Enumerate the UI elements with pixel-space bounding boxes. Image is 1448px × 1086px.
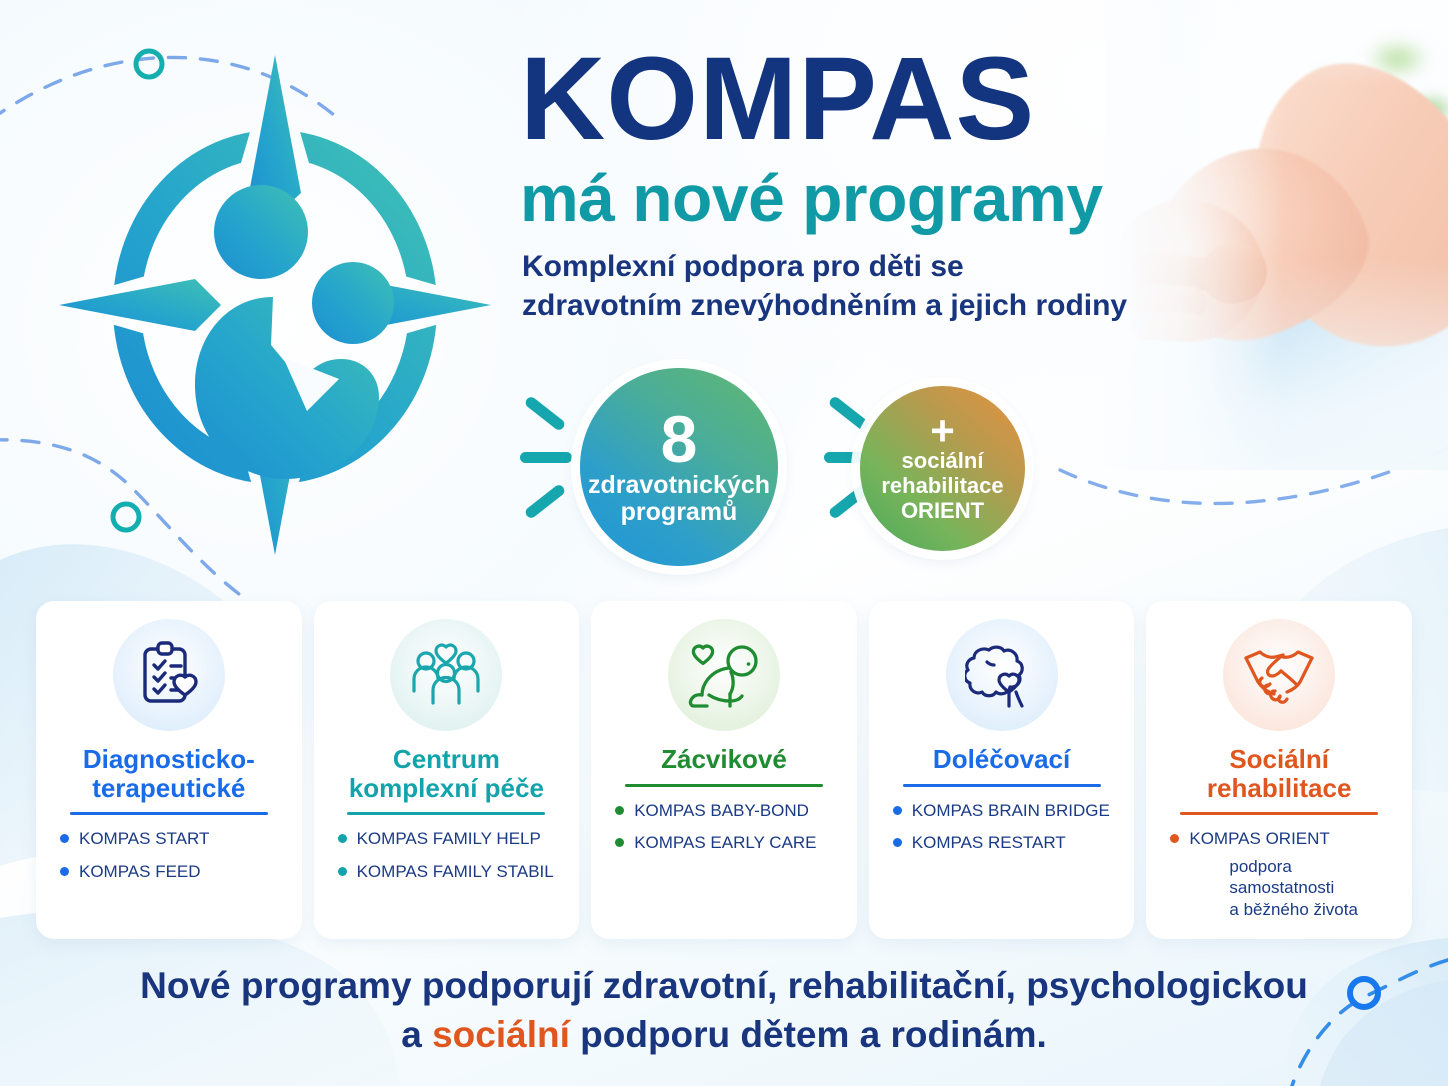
brain-heart-icon [965,640,1039,710]
card-program-list: KOMPAS FAMILY HELP KOMPAS FAMILY STABIL [328,829,566,894]
card-title-line1: Zácvikové [661,745,787,774]
list-item: KOMPAS START [50,829,288,849]
programs-count-line1: zdravotnických [588,472,770,499]
list-item: KOMPAS BABY-BOND [605,801,843,821]
infographic-canvas: KOMPAS má nové programy Komplexní podpor… [0,0,1448,1086]
card-program-list: KOMPAS START KOMPAS FEED [50,829,288,894]
bullet-dot [1170,834,1179,843]
card-rule [347,812,545,815]
headline-block: KOMPAS má nové programy Komplexní podpor… [520,42,1240,325]
social-rehab-badge: + sociální rehabilitace ORIENT [860,386,1025,551]
social-rehab-line2: rehabilitace [881,474,1003,499]
page-title: KOMPAS [520,42,1240,158]
card-title-line1: Centrum [349,745,544,774]
program-name: KOMPAS START [79,829,209,849]
card-socialni-rehabilitace[interactable]: Sociální rehabilitace KOMPAS ORIENT podp… [1146,601,1412,939]
bullet-dot [338,867,347,876]
card-note: podpora samostatnosti a běžného života [1200,856,1358,921]
child-head [312,262,394,344]
programs-count-line2: programů [621,499,738,526]
card-title-line1: Diagnosticko- [83,745,255,774]
tagline-line-2: zdravotním znevýhodněním a jejich rodiny [522,287,1240,325]
card-rule [1180,812,1378,815]
list-item: KOMPAS BRAIN BRIDGE [883,801,1121,821]
card-title: Centrum komplexní péče [349,745,544,802]
card-title: Zácvikové [661,745,787,774]
parent-head [214,185,308,279]
footer-line2-before: a [401,1014,432,1055]
program-name: KOMPAS EARLY CARE [634,833,816,853]
card-title-line1: Doléčovací [933,745,1070,774]
programs-count-number: 8 [661,408,698,471]
compass-parent-child-logo [45,45,505,565]
footer-message: Nové programy podporují zdravotní, rehab… [0,962,1448,1060]
list-item: KOMPAS FEED [50,862,288,882]
card-icon-circle [1223,619,1335,731]
card-program-list: KOMPAS BABY-BOND KOMPAS EARLY CARE [605,801,843,866]
card-zacvikove[interactable]: Zácvikové KOMPAS BABY-BOND KOMPAS EARLY … [591,601,857,939]
page-subtitle: má nové programy [520,164,1240,233]
card-dolecovaci[interactable]: Doléčovací KOMPAS BRAIN BRIDGE KOMPAS RE… [869,601,1135,939]
card-icon-circle [390,619,502,731]
card-rule [903,784,1101,787]
list-item: KOMPAS FAMILY HELP [328,829,566,849]
card-diagnosticko-terapeuticke[interactable]: Diagnosticko- terapeutické KOMPAS START … [36,601,302,939]
card-icon-circle [113,619,225,731]
program-name: KOMPAS FAMILY HELP [357,829,541,849]
card-title-line2: komplexní péče [349,774,544,803]
social-rehab-line1: sociální [902,449,984,474]
card-rule [625,784,823,787]
bullet-dot [615,838,624,847]
rays-left-icon [520,400,566,520]
card-title-line1: Sociální [1207,745,1352,774]
handshake-icon [1240,644,1318,706]
program-name: KOMPAS BABY-BOND [634,801,809,821]
bullet-dot [338,834,347,843]
card-title: Doléčovací [933,745,1070,774]
program-card-grid: Diagnosticko- terapeutické KOMPAS START … [36,601,1412,939]
card-icon-circle [668,619,780,731]
clipboard-checklist-heart-icon [133,639,205,711]
crawling-baby-heart-icon [685,642,763,708]
program-name: KOMPAS ORIENT [1189,829,1329,849]
list-item: KOMPAS RESTART [883,833,1121,853]
bullet-dot [60,834,69,843]
tagline-line-1: Komplexní podpora pro děti se [522,248,1240,286]
card-title-line2: rehabilitace [1207,774,1352,803]
footer-line-2: a sociální podporu dětem a rodinám. [0,1011,1448,1060]
bullet-dot [893,806,902,815]
programs-count-badge: 8 zdravotnických programů [580,368,778,566]
bullet-dot [60,867,69,876]
program-name: KOMPAS FEED [79,862,201,882]
program-name: KOMPAS BRAIN BRIDGE [912,801,1110,821]
list-item: KOMPAS ORIENT [1160,829,1398,849]
program-name: KOMPAS RESTART [912,833,1066,853]
plus-icon: + [930,414,955,448]
list-item: KOMPAS FAMILY STABIL [328,862,566,882]
family-heart-icon [408,639,484,711]
card-title-line2: terapeutické [83,774,255,803]
card-rule [70,812,268,815]
footer-highlight: sociální [432,1014,570,1055]
card-centrum-komplexni-pece[interactable]: Centrum komplexní péče KOMPAS FAMILY HEL… [314,601,580,939]
tagline: Komplexní podpora pro děti se zdravotním… [522,248,1240,325]
bullet-dot [615,806,624,815]
badge-group: 8 zdravotnických programů + sociální reh… [518,362,1078,572]
footer-line-1: Nové programy podporují zdravotní, rehab… [0,962,1448,1011]
footer-line2-after: podporu dětem a rodinám. [570,1014,1047,1055]
card-icon-circle [946,619,1058,731]
card-program-list: KOMPAS BRAIN BRIDGE KOMPAS RESTART [883,801,1121,866]
bullet-dot [893,838,902,847]
list-item: KOMPAS EARLY CARE [605,833,843,853]
program-name: KOMPAS FAMILY STABIL [357,862,554,882]
card-title: Diagnosticko- terapeutické [83,745,255,802]
social-rehab-line3: ORIENT [901,499,984,524]
card-title: Sociální rehabilitace [1207,745,1352,802]
